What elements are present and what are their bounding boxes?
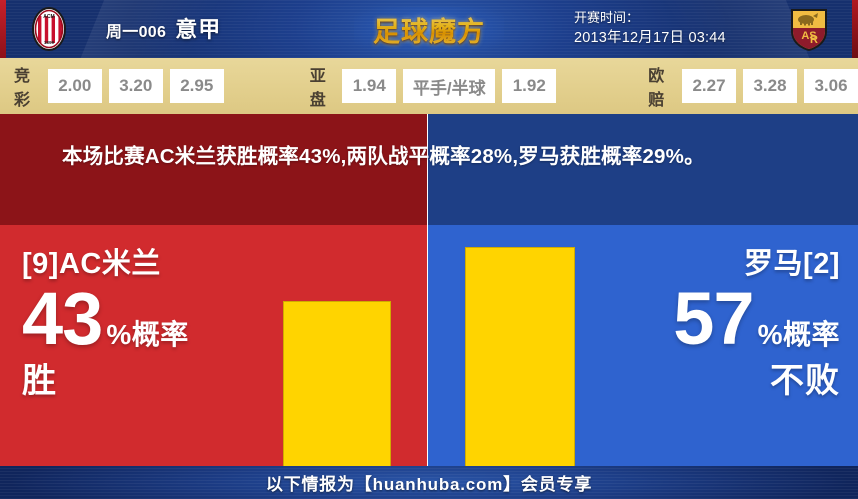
away-team-info: 罗马[2] 57 %概率 不败 — [582, 247, 840, 401]
footer-bar: 以下情报为【huanhuba.com】会员专享 — [0, 466, 858, 499]
header-bar: ACM 1899 周一006 意甲 足球魔方 开赛时间： 2013年12月17日… — [0, 0, 858, 58]
ac-milan-crest-icon: ACM 1899 — [26, 5, 72, 53]
home-probability-row: 43 %概率 — [22, 279, 272, 359]
panel-divider — [427, 225, 428, 466]
svg-text:1899: 1899 — [44, 40, 55, 45]
odds-cell-draw[interactable]: 3.28 — [743, 69, 797, 103]
svg-text:R: R — [810, 34, 818, 46]
odds-cell-handicap[interactable]: 平手/半球 — [403, 69, 495, 103]
odds-group-european: 欧赔 2.27 3.28 3.06 — [648, 69, 858, 103]
svg-text:ACM: ACM — [43, 14, 54, 20]
away-probability-unit: %概率 — [758, 313, 840, 353]
summary-text: 本场比赛AC米兰获胜概率43%,两队战平概率28%,罗马获胜概率29%。 — [62, 140, 802, 173]
odds-cell-home[interactable]: 2.00 — [48, 69, 102, 103]
footer-notice-text: 以下情报为【huanhuba.com】会员专享 — [266, 470, 592, 495]
match-round-label: 周一006 — [106, 18, 166, 42]
as-roma-crest-icon: AS R — [786, 5, 832, 53]
header-edge-accent-right — [852, 0, 858, 58]
odds-group-title: 竞彩 — [14, 62, 40, 110]
odds-cell-home[interactable]: 1.94 — [342, 69, 396, 103]
away-probability-bar — [465, 247, 575, 466]
match-title-group: 周一006 意甲 — [106, 12, 221, 44]
odds-cell-away[interactable]: 1.92 — [502, 69, 556, 103]
home-team-name: [9]AC米兰 — [22, 247, 272, 281]
away-team-name: 罗马[2] — [582, 247, 840, 281]
away-team-panel: 罗马[2] 57 %概率 不败 — [428, 225, 858, 466]
header-edge-accent-left — [0, 0, 6, 58]
odds-cell-away[interactable]: 3.06 — [804, 69, 858, 103]
kickoff-time-block: 开赛时间： 2013年12月17日 03:44 — [574, 7, 774, 49]
away-probability-value: 57 — [673, 279, 753, 359]
odds-group-jingcai: 竞彩 2.00 3.20 2.95 — [14, 69, 224, 103]
home-probability-value: 43 — [22, 279, 102, 359]
league-name: 意甲 — [175, 12, 221, 44]
match-prediction-graphic: ACM 1899 周一006 意甲 足球魔方 开赛时间： 2013年12月17日… — [0, 0, 858, 499]
odds-group-asian-handicap: 亚盘 1.94 平手/半球 1.92 — [310, 69, 556, 103]
brand-logo-text: 足球魔方 — [373, 10, 485, 49]
brand-logo: 足球魔方 — [354, 7, 504, 51]
odds-cell-home[interactable]: 2.27 — [682, 69, 736, 103]
odds-group-title: 欧赔 — [648, 62, 674, 110]
away-outcome-label: 不败 — [582, 361, 840, 401]
probability-panels: [9]AC米兰 43 %概率 胜 罗马[2] 57 %概率 不败 — [0, 225, 858, 466]
away-probability-row: 57 %概率 — [582, 279, 840, 359]
home-team-panel: [9]AC米兰 43 %概率 胜 — [0, 225, 427, 466]
odds-group-title: 亚盘 — [310, 62, 334, 110]
odds-cell-away[interactable]: 2.95 — [170, 69, 224, 103]
summary-band: 本场比赛AC米兰获胜概率43%,两队战平概率28%,罗马获胜概率29%。 — [0, 114, 858, 225]
home-probability-unit: %概率 — [106, 313, 188, 353]
odds-cell-draw[interactable]: 3.20 — [109, 69, 163, 103]
kickoff-time-value: 2013年12月17日 03:44 — [574, 28, 774, 49]
home-probability-bar — [283, 301, 391, 466]
odds-bar: 竞彩 2.00 3.20 2.95 亚盘 1.94 平手/半球 1.92 欧赔 … — [0, 58, 858, 114]
kickoff-time-label: 开赛时间： — [574, 7, 774, 28]
home-team-info: [9]AC米兰 43 %概率 胜 — [22, 247, 272, 401]
home-outcome-label: 胜 — [22, 361, 272, 401]
